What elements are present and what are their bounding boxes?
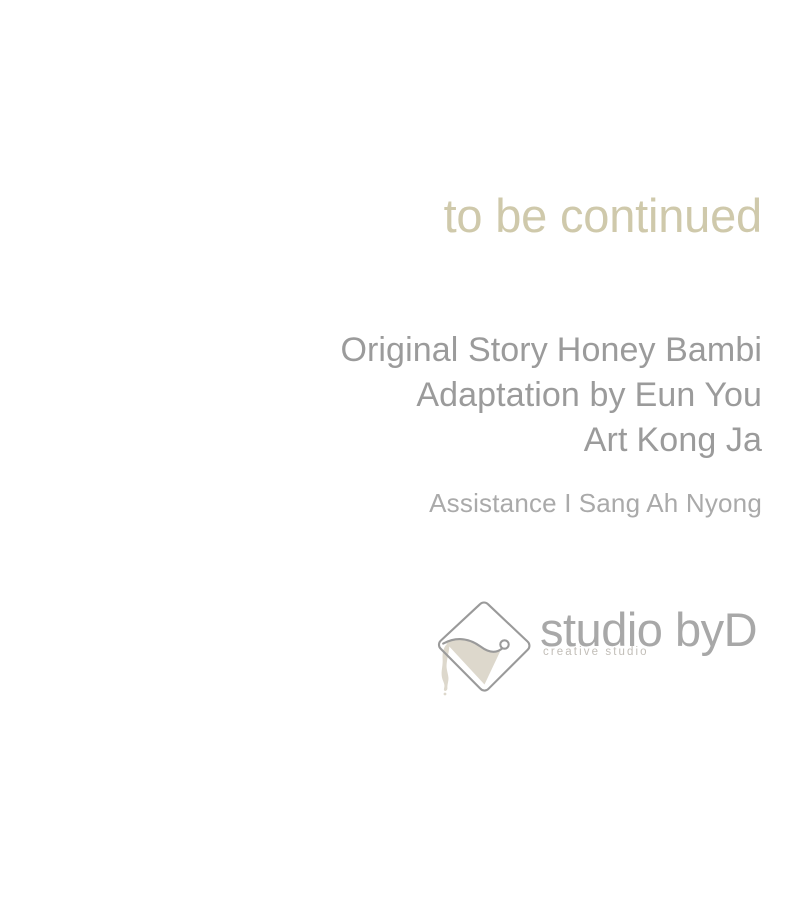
- studio-tagline: creative studio: [543, 646, 649, 658]
- credit-name: Kong Ja: [637, 421, 762, 459]
- assistance-names: Sang Ah Nyong: [579, 488, 762, 518]
- credit-line-original-story: Original StoryHoney Bambi: [0, 328, 762, 373]
- credit-line-art: ArtKong Ja: [0, 418, 762, 463]
- to-be-continued-text: to be continued: [0, 192, 762, 239]
- credit-line-adaptation: Adaptation byEun You: [0, 373, 762, 418]
- credit-role: Adaptation by: [416, 376, 625, 414]
- studio-diamond-icon: [432, 596, 536, 696]
- credit-role: Art: [584, 421, 628, 459]
- end-card-page: to be continued Original StoryHoney Bamb…: [0, 0, 800, 916]
- eyelet-circle-icon: [500, 640, 508, 648]
- credits-block: Original StoryHoney Bambi Adaptation byE…: [0, 328, 762, 463]
- credit-role: Original Story: [340, 331, 547, 369]
- assistance-role: Assistance I: [429, 488, 572, 518]
- credit-name: Honey Bambi: [557, 331, 762, 369]
- honey-droplet-icon: [444, 693, 447, 696]
- studio-logo: studio byD creative studio: [432, 596, 772, 696]
- studio-logo-text: studio byD creative studio: [540, 596, 757, 656]
- credit-name: Eun You: [635, 376, 762, 414]
- assistance-line: Assistance ISang Ah Nyong: [0, 488, 762, 518]
